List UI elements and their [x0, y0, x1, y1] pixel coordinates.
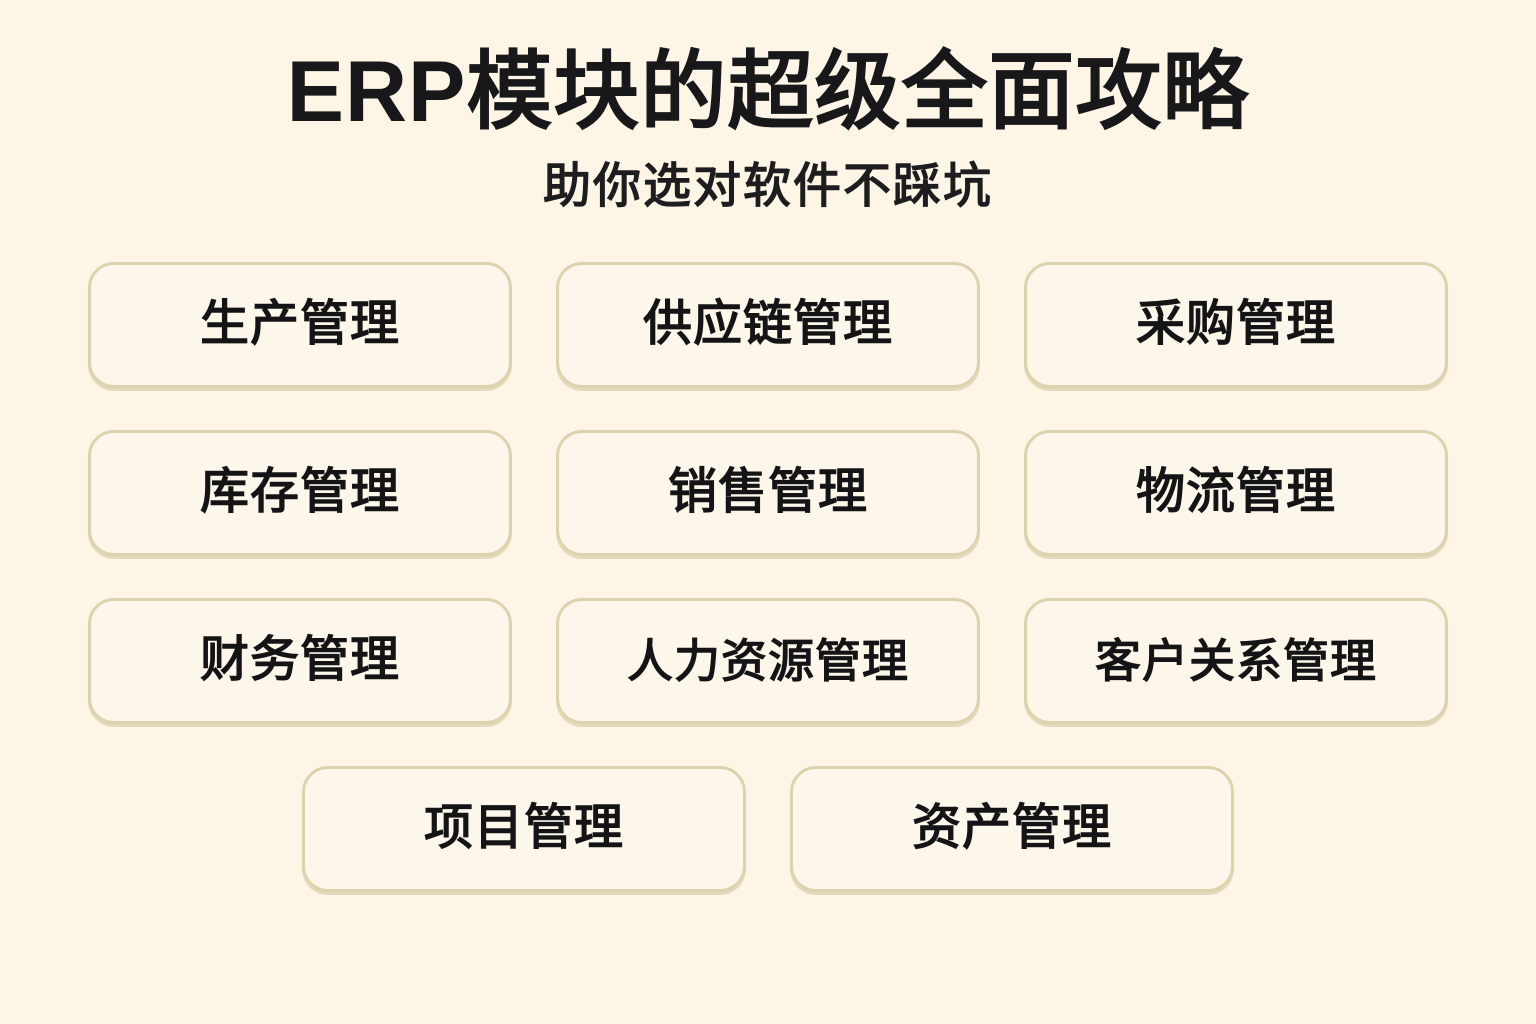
module-card-finance[interactable]: 财务管理 — [88, 598, 512, 724]
module-card-label: 财务管理 — [200, 636, 400, 685]
page-subtitle: 助你选对软件不踩坑 — [0, 161, 1536, 214]
erp-modules-poster: ERP模块的超级全面攻略 助你选对软件不踩坑 生产管理 供应链管理 采购管理 库… — [0, 0, 1536, 1024]
module-card-inventory[interactable]: 库存管理 — [88, 430, 512, 556]
module-card-supply-chain[interactable]: 供应链管理 — [556, 262, 980, 388]
module-card-procurement[interactable]: 采购管理 — [1024, 262, 1448, 388]
module-card-label: 人力资源管理 — [627, 638, 909, 684]
module-card-label: 采购管理 — [1136, 300, 1336, 349]
module-card-label: 物流管理 — [1136, 468, 1336, 517]
module-card-asset[interactable]: 资产管理 — [790, 766, 1234, 892]
poster-header: ERP模块的超级全面攻略 助你选对软件不踩坑 — [0, 0, 1536, 214]
module-row: 生产管理 供应链管理 采购管理 — [73, 262, 1463, 388]
module-card-label: 项目管理 — [424, 804, 624, 853]
module-card-crm[interactable]: 客户关系管理 — [1024, 598, 1448, 724]
module-grid: 生产管理 供应链管理 采购管理 库存管理 销售管理 物流管理 财务管理 — [73, 262, 1463, 892]
page-title: ERP模块的超级全面攻略 — [0, 46, 1536, 139]
module-card-label: 库存管理 — [200, 468, 400, 517]
module-card-label: 生产管理 — [200, 300, 400, 349]
module-card-label: 资产管理 — [912, 804, 1112, 853]
module-card-label: 供应链管理 — [643, 300, 893, 349]
module-row: 库存管理 销售管理 物流管理 — [73, 430, 1463, 556]
module-card-human-resources[interactable]: 人力资源管理 — [556, 598, 980, 724]
module-card-sales[interactable]: 销售管理 — [556, 430, 980, 556]
module-card-logistics[interactable]: 物流管理 — [1024, 430, 1448, 556]
module-row: 项目管理 资产管理 — [73, 766, 1463, 892]
module-card-project[interactable]: 项目管理 — [302, 766, 746, 892]
module-card-label: 客户关系管理 — [1095, 638, 1377, 684]
module-row: 财务管理 人力资源管理 客户关系管理 — [73, 598, 1463, 724]
module-card-label: 销售管理 — [668, 468, 868, 517]
module-card-production[interactable]: 生产管理 — [88, 262, 512, 388]
